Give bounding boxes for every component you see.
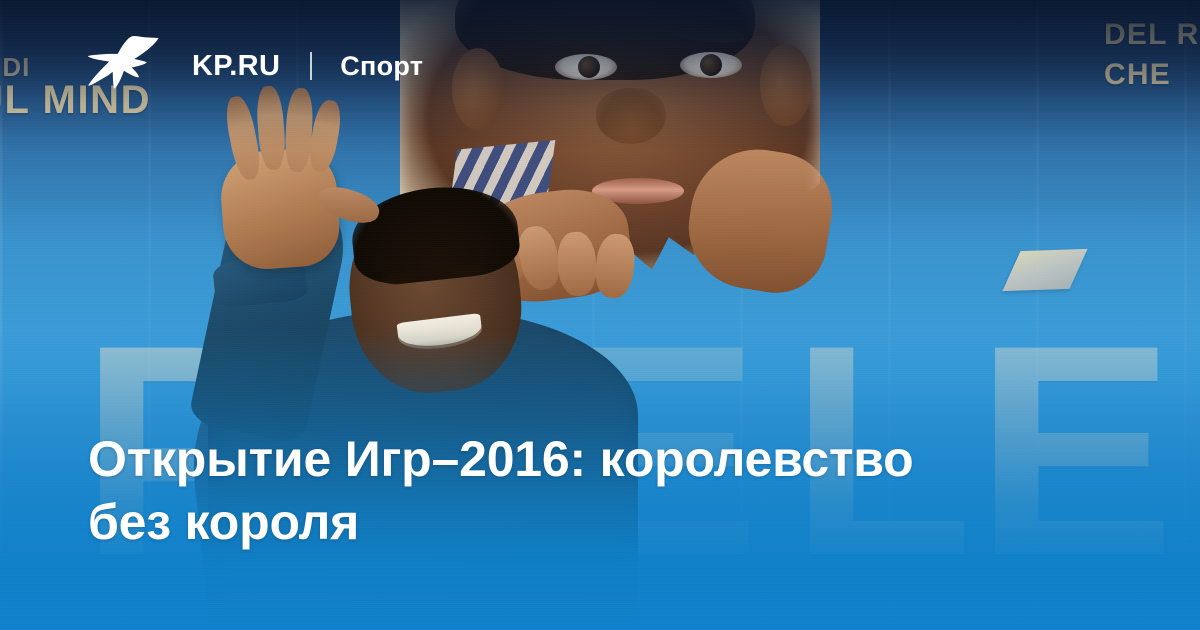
social-share-card: P E L E RI DI FUL MIND DEL R CHE [0, 0, 1200, 630]
headline-line-2: без короля [88, 491, 1088, 554]
brand-lockup[interactable]: KP.RU Спорт [88, 36, 423, 96]
brand-name[interactable]: KP.RU [192, 52, 280, 81]
header-divider [310, 52, 312, 80]
swallow-bird-icon [88, 36, 162, 96]
section-label-sport[interactable]: Спорт [340, 53, 423, 80]
card-header: KP.RU Спорт [0, 0, 1200, 132]
article-headline: Открытие Игр–2016: королевство без корол… [88, 428, 1088, 554]
headline-line-1: Открытие Игр–2016: королевство [88, 428, 1088, 491]
